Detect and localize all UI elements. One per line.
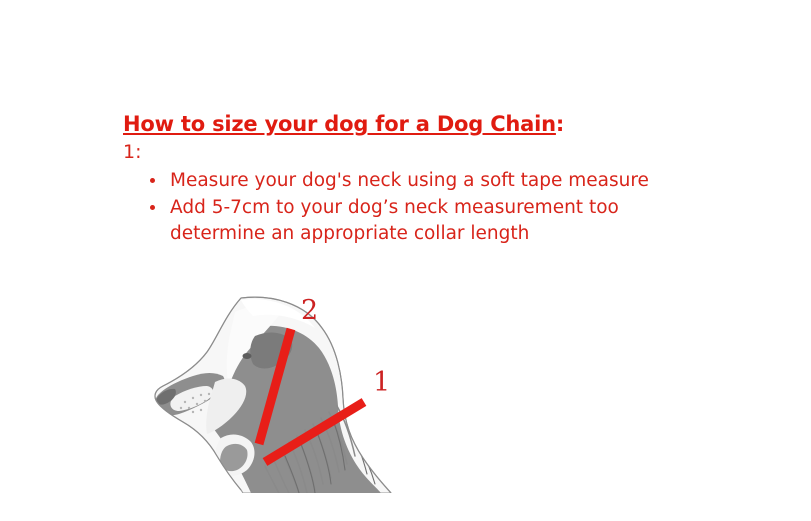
page-title-colon: : xyxy=(556,112,564,136)
list-item: Add 5-7cm to your dog’s neck measurement… xyxy=(146,195,686,247)
measure-label-2: 2 xyxy=(301,297,318,324)
page-canvas: How to size your dog for a Dog Chain: 1:… xyxy=(0,0,811,521)
instruction-list: Measure your dog's neck using a soft tap… xyxy=(146,168,686,248)
bullet-dot-icon xyxy=(150,178,155,183)
bullet-dot-icon xyxy=(150,205,155,210)
list-item: Measure your dog's neck using a soft tap… xyxy=(146,168,686,194)
measure-label-1: 1 xyxy=(373,369,390,396)
dog-measurement-diagram: 2 1 xyxy=(123,290,433,493)
page-title-underlined-text: How to size your dog for a Dog Chain xyxy=(123,112,556,136)
page-title: How to size your dog for a Dog Chain: xyxy=(123,112,564,136)
step-number-label: 1: xyxy=(123,141,142,163)
list-item-text: Measure your dog's neck using a soft tap… xyxy=(170,170,649,191)
list-item-text: Add 5-7cm to your dog’s neck measurement… xyxy=(170,197,619,244)
